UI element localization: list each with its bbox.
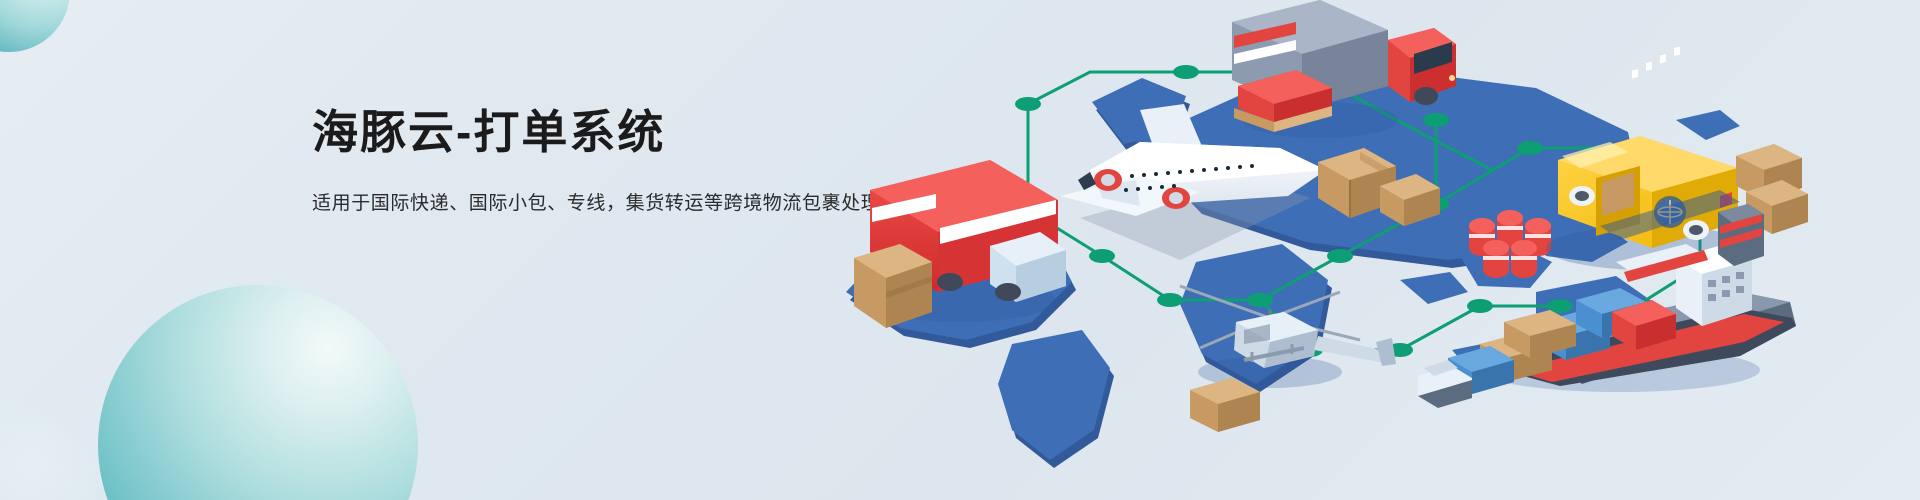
logistics-illustration (840, 0, 1920, 500)
decorative-circle-bottom-left (98, 285, 418, 500)
decorative-circle-bottom-left-faint (0, 400, 110, 500)
red-semi-truck-icon (854, 160, 1066, 328)
banner-title: 海豚云-打单系统 (312, 104, 912, 162)
banner-copy: 海豚云-打单系统 适用于国际快递、国际小包、专线，集货转运等跨境物流包裹处理 (312, 104, 912, 218)
banner-subtitle: 适用于国际快递、国际小包、专线，集货转运等跨境物流包裹处理 (312, 190, 912, 219)
promo-banner: 海豚云-打单系统 适用于国际快递、国际小包、专线，集货转运等跨境物流包裹处理 (0, 0, 1920, 500)
decorative-circle-top-left (0, 0, 70, 52)
